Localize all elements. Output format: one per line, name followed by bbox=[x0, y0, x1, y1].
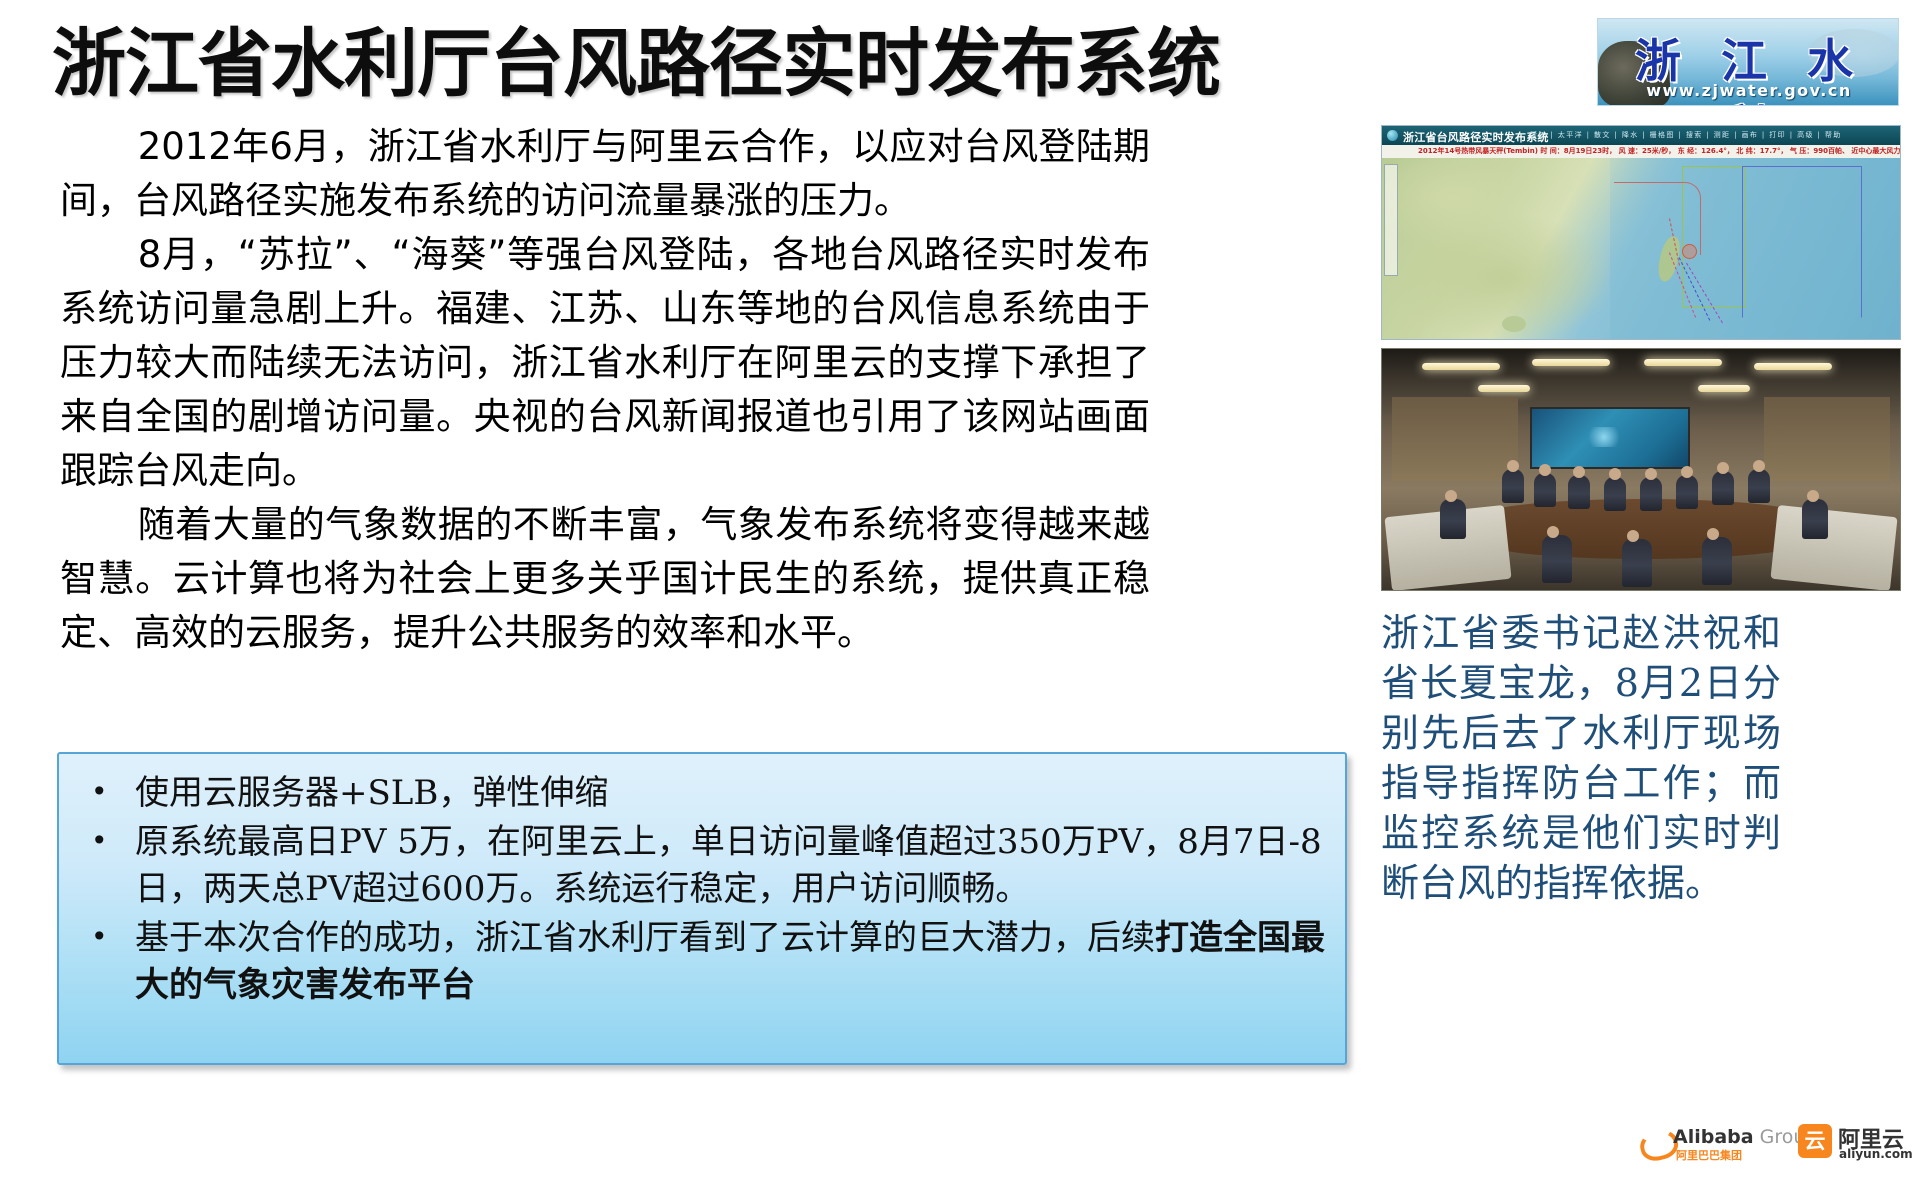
attendee bbox=[1748, 469, 1770, 503]
monitor-wall-screen bbox=[1530, 407, 1690, 469]
highlight-box: 使用云服务器+SLB，弹性伸缩 原系统最高日PV 5万，在阿里云上，单日访问量峰… bbox=[57, 752, 1347, 1065]
aliyun-url: aliyun.com bbox=[1839, 1147, 1913, 1161]
bullet-text: 使用云服务器+SLB，弹性伸缩 bbox=[135, 773, 608, 813]
command-room-photo bbox=[1381, 348, 1901, 591]
ceiling-light bbox=[1478, 385, 1530, 392]
logo-url: www.zjwater.gov.cn bbox=[1598, 81, 1899, 100]
zjwater-logo: 浙 江 水 利 www.zjwater.gov.cn bbox=[1597, 18, 1899, 106]
screenshot-status-line: 2012年14号热带风暴天秤(Tembin) 时 间：8月19日23时， 风 速… bbox=[1382, 145, 1900, 159]
screenshot-toolbar: 浙江 | 太平洋 | 散文 | 降水 | 栅格图 | 搜索 | 测距 | 画布 … bbox=[1530, 130, 1842, 140]
ceiling-light bbox=[1532, 359, 1610, 366]
hainan-island bbox=[1502, 316, 1526, 332]
typhoon-eye-marker bbox=[1682, 244, 1697, 259]
list-item: 原系统最高日PV 5万，在阿里云上，单日访问量峰值超过350万PV，8月7日-8… bbox=[77, 819, 1331, 913]
ceiling-light bbox=[1422, 363, 1500, 370]
list-item: 使用云服务器+SLB，弹性伸缩 bbox=[77, 770, 1331, 817]
paragraph-3: 随着大量的气象数据的不断丰富，气象发布系统将变得越来越智慧。云计算也将为社会上更… bbox=[60, 498, 1150, 660]
alibaba-name: Alibaba Group bbox=[1673, 1126, 1817, 1148]
paragraph-2: 8月，“苏拉”、“海葵”等强台风登陆，各地台风路径实时发布系统访问量急剧上升。福… bbox=[60, 228, 1150, 498]
attendee bbox=[1640, 477, 1662, 511]
ceiling-light bbox=[1698, 385, 1750, 392]
alibaba-name-cn: 阿里巴巴集团 bbox=[1676, 1147, 1742, 1163]
highlight-bullet-list: 使用云服务器+SLB，弹性伸缩 原系统最高日PV 5万，在阿里云上，单日访问量峰… bbox=[59, 754, 1345, 1009]
status-text: 2012年14号热带风暴天秤(Tembin) 时 间：8月19日23时， 风 速… bbox=[1382, 147, 1900, 155]
attendee bbox=[1604, 477, 1626, 511]
left-wall bbox=[1392, 397, 1518, 481]
aliyun-logo: 云 阿里云 aliyun.com bbox=[1798, 1122, 1910, 1170]
map-canvas bbox=[1382, 158, 1900, 339]
bullet-text: 基于本次合作的成功，浙江省水利厅看到了云计算的巨大潜力，后续 bbox=[135, 918, 1155, 958]
screenshot-titlebar: 浙江省台风路径实时发布系统 浙江 | 太平洋 | 散文 | 降水 | 栅格图 |… bbox=[1382, 126, 1900, 145]
attendee bbox=[1568, 475, 1590, 509]
screen-typhoon-image bbox=[1584, 427, 1624, 447]
attendee bbox=[1440, 499, 1466, 539]
attendee bbox=[1622, 539, 1652, 587]
aliyun-mark-icon: 云 bbox=[1798, 1124, 1832, 1158]
attendee bbox=[1676, 475, 1698, 509]
footer-logos: Alibaba Group 阿里巴巴集团 云 阿里云 aliyun.com bbox=[1640, 1118, 1910, 1180]
side-table-right bbox=[1770, 505, 1897, 591]
typhoon-system-screenshot: 浙江省台风路径实时发布系统 浙江 | 太平洋 | 散文 | 降水 | 栅格图 |… bbox=[1381, 125, 1901, 340]
attendee bbox=[1712, 471, 1734, 505]
paragraph-1: 2012年6月，浙江省水利厅与阿里云合作，以应对台风登陆期间，台风路径实施发布系… bbox=[60, 120, 1150, 228]
right-wall bbox=[1764, 397, 1890, 481]
bullet-text: 原系统最高日PV 5万，在阿里云上，单日访问量峰值超过350万PV，8月7日-8… bbox=[135, 822, 1322, 909]
ceiling-light bbox=[1644, 359, 1722, 366]
attendee bbox=[1534, 473, 1556, 507]
attendee bbox=[1502, 469, 1524, 503]
map-zoom-control bbox=[1384, 164, 1398, 276]
alibaba-group-logo: Alibaba Group 阿里巴巴集团 bbox=[1640, 1126, 1776, 1166]
body-text: 2012年6月，浙江省水利厅与阿里云合作，以应对台风登陆期间，台风路径实施发布系… bbox=[60, 120, 1150, 660]
ceiling-light bbox=[1754, 363, 1832, 370]
attendee bbox=[1802, 499, 1828, 539]
attendee bbox=[1702, 537, 1732, 585]
list-item: 基于本次合作的成功，浙江省水利厅看到了云计算的巨大潜力，后续打造全国最大的气象灾… bbox=[77, 915, 1331, 1009]
attendee bbox=[1542, 535, 1572, 583]
globe-icon bbox=[1387, 130, 1398, 141]
page-title: 浙江省水利厅台风路径实时发布系统 bbox=[52, 18, 1172, 110]
photo-caption: 浙江省委书记赵洪祝和省长夏宝龙，8月2日分别先后去了水利厅现场指导指挥防台工作；… bbox=[1381, 608, 1781, 908]
warning-area-blue bbox=[1742, 166, 1862, 318]
screenshot-app-title: 浙江省台风路径实时发布系统 bbox=[1403, 129, 1549, 145]
